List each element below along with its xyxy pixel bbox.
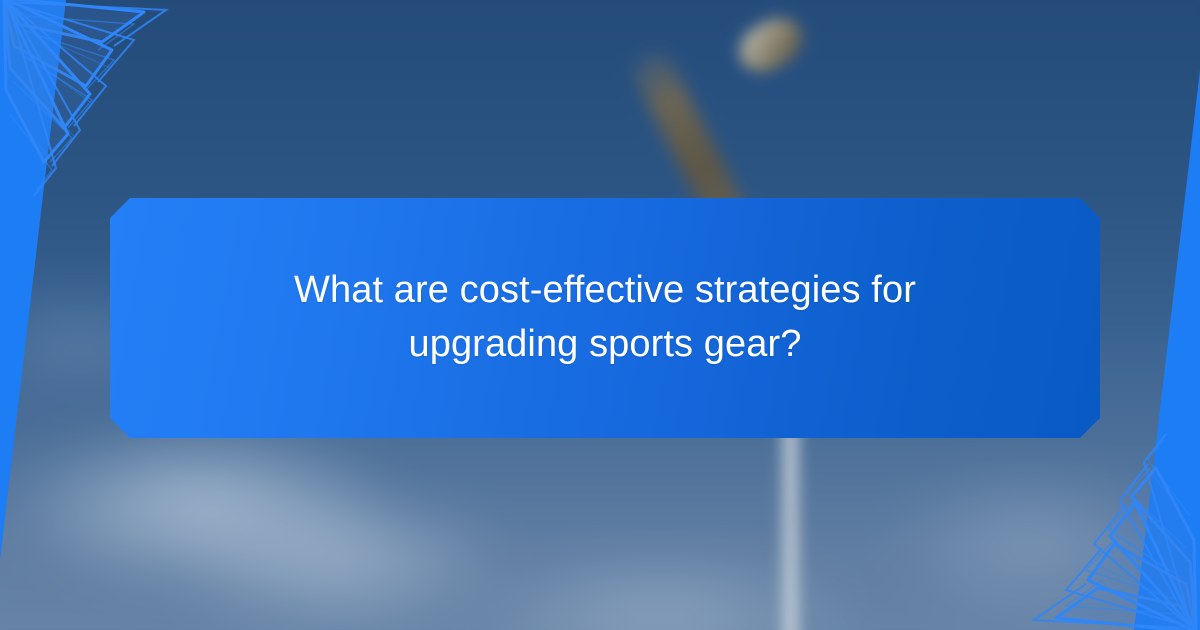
question-text: What are cost-effective strategies for u… [165,264,1045,372]
question-banner: What are cost-effective strategies for u… [110,198,1100,438]
quote-card: What are cost-effective strategies for u… [0,0,1200,630]
